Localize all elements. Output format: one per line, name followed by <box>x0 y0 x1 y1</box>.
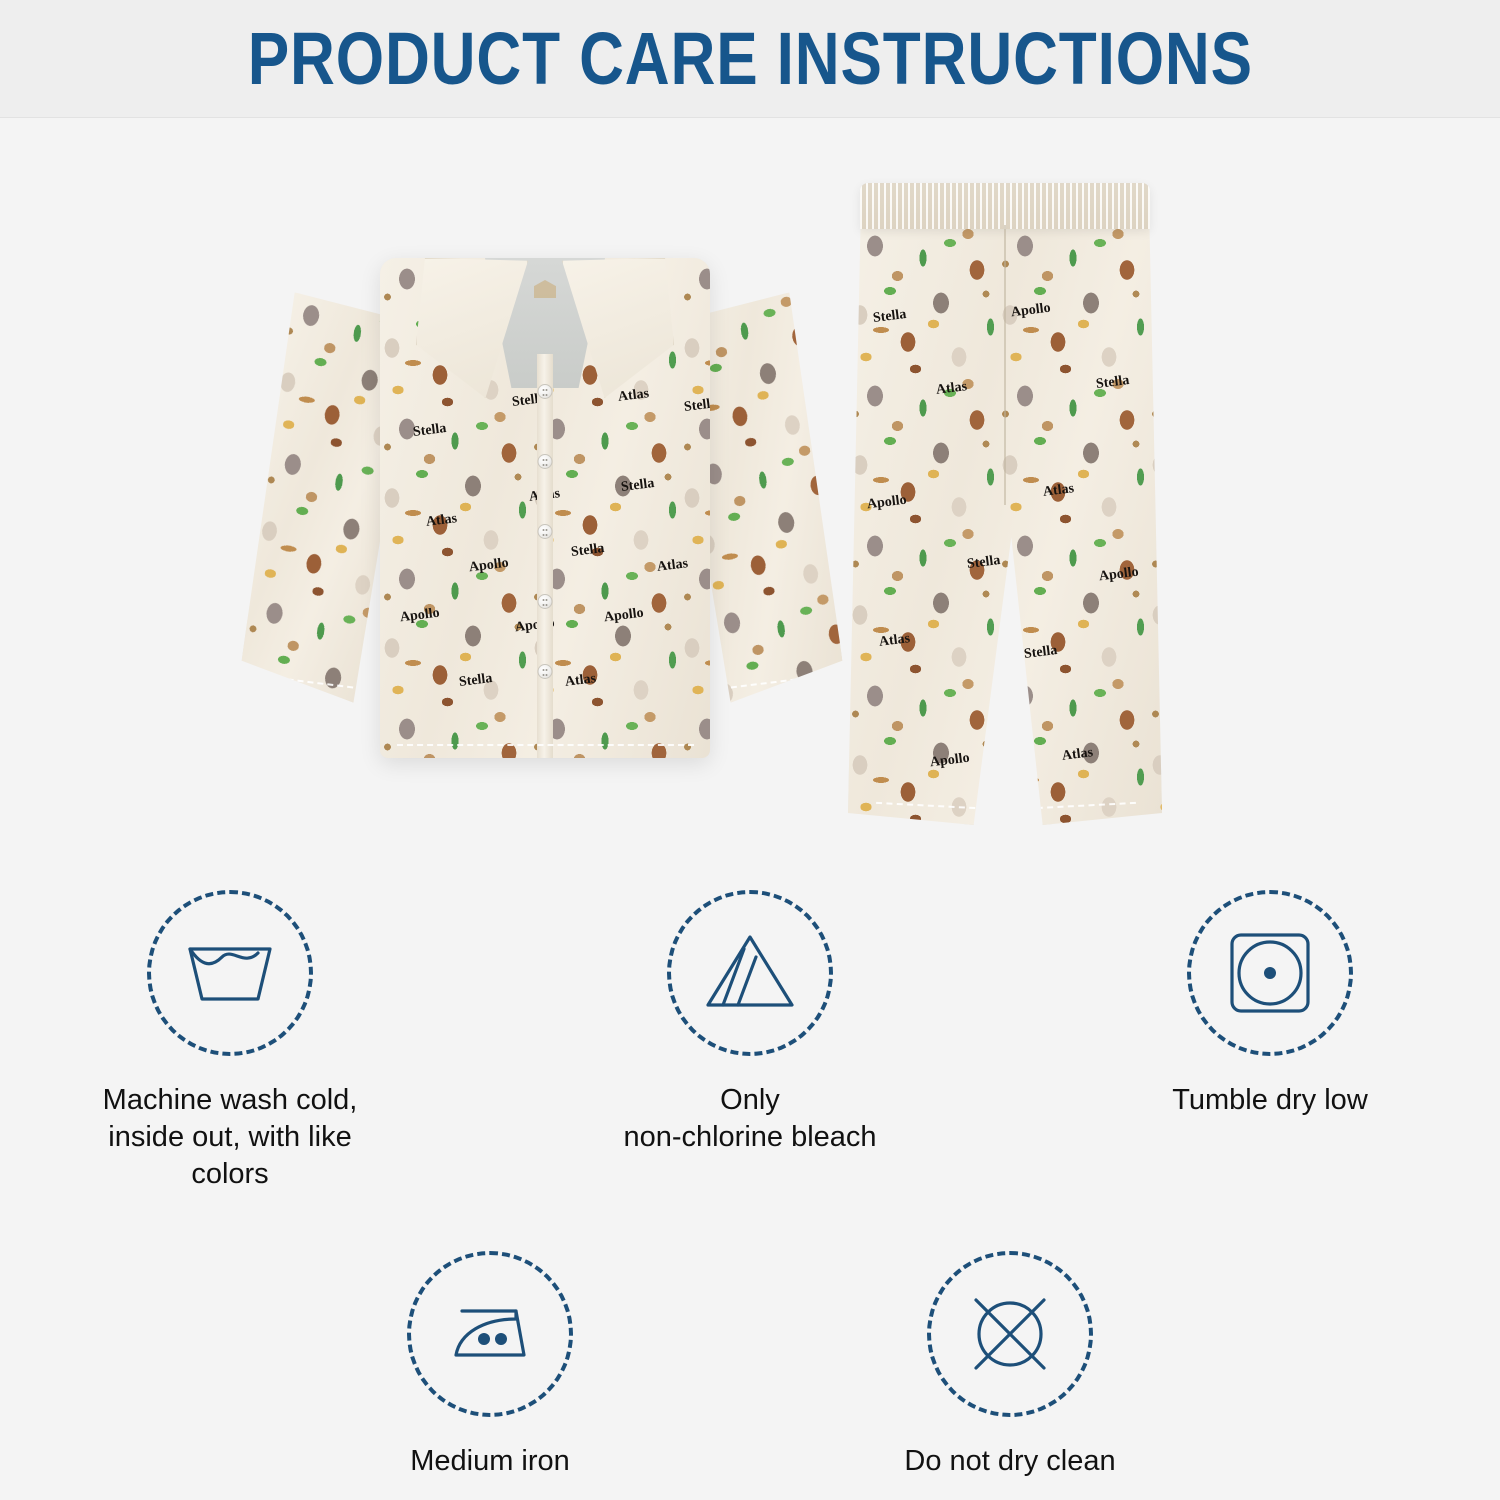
shirt-button <box>538 454 553 469</box>
pattern-name-label: Stella <box>458 671 493 691</box>
shirt-hem-stitching <box>397 744 694 746</box>
care-label: Tumble dry low <box>1172 1082 1368 1119</box>
pattern-name-label: Stella <box>620 476 655 496</box>
pants-elastic-waistband <box>860 183 1150 229</box>
care-label: Medium iron <box>410 1443 570 1480</box>
pattern-name-label: Atlas <box>879 631 912 651</box>
no-dry-clean-icon <box>965 1289 1055 1379</box>
right-cuff-stitching <box>721 674 837 690</box>
pattern-name-label: Apollo <box>1098 565 1139 586</box>
pajama-pants: StellaApolloAtlasStellaApolloAtlasStella… <box>830 183 1180 843</box>
pattern-name-label: Apollo <box>1010 301 1051 322</box>
pattern-name-label: Apollo <box>929 751 970 772</box>
pattern-name-label: Stella <box>966 553 1001 573</box>
care-item-non-chlorine-bleach: Only non-chlorine bleach <box>600 890 900 1193</box>
pattern-name-label: Apollo <box>468 556 509 577</box>
page-header: PRODUCT CARE INSTRUCTIONS <box>0 0 1500 118</box>
pattern-name-label: Stella <box>412 421 447 441</box>
pants-center-seam <box>1004 225 1006 505</box>
bleach-triangle-icon <box>704 931 796 1015</box>
care-item-tumble-dry-low: Tumble dry low <box>1120 890 1420 1193</box>
tumble-dry-icon <box>1227 930 1313 1016</box>
care-item-machine-wash-cold: Machine wash cold, inside out, with like… <box>80 890 380 1193</box>
wash-basin-icon <box>180 933 280 1013</box>
pattern-name-label: Atlas <box>564 671 597 691</box>
pattern-name-label: Atlas <box>656 556 689 576</box>
care-icon-frame <box>407 1251 573 1417</box>
pattern-name-label: Stella <box>571 541 606 561</box>
product-image-stage: StellaStellaAtlasStellaAtlasAtlasStellaA… <box>0 118 1500 878</box>
care-symbols-row-2: Medium iron Do not dry clean <box>0 1251 1500 1480</box>
pattern-name-label: Apollo <box>866 493 907 514</box>
care-icon-frame <box>927 1251 1093 1417</box>
pattern-name-label: Stella <box>872 307 907 327</box>
iron-icon <box>440 1299 540 1369</box>
shirt-body: StellaStellaAtlasStellaAtlasAtlasStellaA… <box>380 258 710 758</box>
care-item-medium-iron: Medium iron <box>340 1251 640 1480</box>
pattern-name-label: Atlas <box>1042 481 1075 501</box>
care-label: Do not dry clean <box>904 1443 1115 1480</box>
pants-left-hem-stitching <box>876 802 996 810</box>
pattern-name-label: Atlas <box>1061 745 1094 765</box>
pajama-shirt: StellaStellaAtlasStellaAtlasAtlasStellaA… <box>262 248 822 768</box>
shirt-button <box>538 664 553 679</box>
care-symbols-row-1: Machine wash cold, inside out, with like… <box>0 890 1500 1193</box>
pants-right-hem-stitching <box>1016 802 1136 810</box>
care-icon-frame <box>147 890 313 1056</box>
pattern-name-label: Atlas <box>617 386 650 406</box>
pattern-name-label: Stella <box>1023 643 1058 663</box>
pattern-name-label: Apollo <box>604 606 645 627</box>
pattern-name-label: Apollo <box>399 606 440 627</box>
care-icon-frame <box>1187 890 1353 1056</box>
care-symbols-section: Machine wash cold, inside out, with like… <box>0 890 1500 1480</box>
shirt-button <box>538 594 553 609</box>
shirt-button <box>538 384 553 399</box>
page-title: PRODUCT CARE INSTRUCTIONS <box>247 22 1252 96</box>
pattern-name-label: Stella <box>1095 373 1130 393</box>
shirt-button <box>538 524 553 539</box>
pattern-name-label: Atlas <box>935 379 968 399</box>
care-item-do-not-dry-clean: Do not dry clean <box>860 1251 1160 1480</box>
left-cuff-stitching <box>248 674 364 690</box>
pattern-name-label: Atlas <box>425 511 458 531</box>
care-icon-frame <box>667 890 833 1056</box>
care-label: Only non-chlorine bleach <box>623 1082 876 1156</box>
care-label: Machine wash cold, inside out, with like… <box>80 1082 380 1193</box>
shirt-button-placket <box>537 354 553 758</box>
pattern-name-label: Stella <box>683 396 710 416</box>
